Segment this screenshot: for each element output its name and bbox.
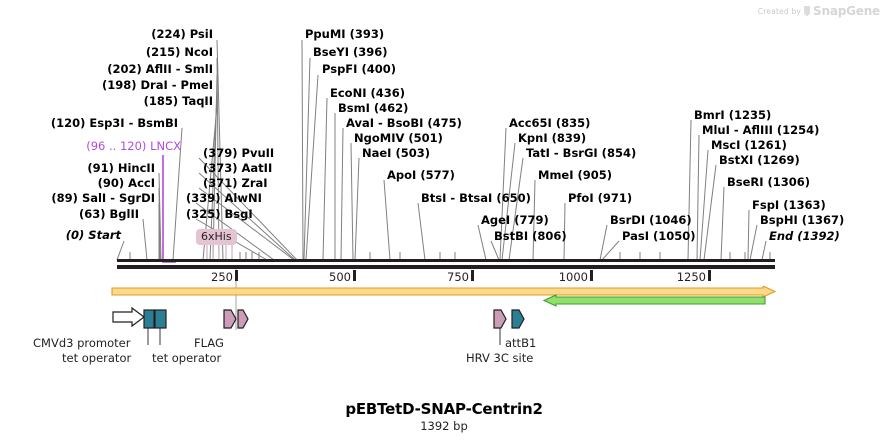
site-label[interactable]: (90) AccI [98,178,155,190]
site-label[interactable]: (224) PsiI [151,29,213,41]
site-label[interactable]: (373) AatII [203,163,272,175]
badge-6xhis[interactable]: 6xHis [196,229,237,245]
site-label[interactable]: (379) PvuII [203,148,274,160]
site-label[interactable]: Acc65I (835) [509,118,590,130]
plasmid-title: pEBTetD-SNAP-Centrin2 [0,400,888,418]
site-label[interactable]: BseYI (396) [313,47,388,59]
dna-backbone-bottom [117,265,775,269]
feature-label-attb1[interactable]: attB1 [505,336,536,350]
feature-label-hrv-3c-site[interactable]: HRV 3C site [466,351,533,365]
site-label-start[interactable]: (0) Start [66,230,121,242]
feature-label-tet-operator-2[interactable]: tet operator [152,351,221,365]
dna-backbone-top [117,259,775,262]
created-by-label: Created by [758,7,801,16]
site-label[interactable]: MluI - AflIII (1254) [702,125,819,137]
site-label[interactable]: KpnI (839) [518,133,586,145]
site-label[interactable]: BmrI (1235) [694,110,771,122]
site-label[interactable]: BsmI (462) [338,103,408,115]
ruler-tick [590,270,593,281]
site-label[interactable]: TatI - BsrGI (854) [526,148,636,160]
site-label[interactable]: (325) BsgI [186,209,253,221]
site-label[interactable]: PfoI (971) [568,193,632,205]
ruler-tick-label: 1000 [559,270,588,284]
site-label[interactable]: PspFI (400) [322,64,396,76]
site-label[interactable]: (120) Esp3I - BsmBI [51,118,178,130]
flag-glyph-2 [238,310,248,328]
site-label[interactable]: NaeI (503) [362,148,430,160]
site-label[interactable]: BsrDI (1046) [610,215,692,227]
site-label[interactable]: BstXI (1269) [719,155,800,167]
feature-label-flag[interactable]: FLAG [194,336,224,350]
site-label[interactable]: (63) BglII [79,209,139,221]
site-label[interactable]: MscI (1261) [711,140,787,152]
site-label[interactable]: (91) HincII [87,163,155,175]
cmvd3-promoter-glyph [113,308,144,326]
attb1-glyph [512,310,524,328]
site-label[interactable]: (89) SalI - SgrDI [51,193,155,205]
ruler-tick [471,270,474,281]
plasmid-map: Created by SnapGene [0,0,888,440]
feature-label-cmvd3-promoter[interactable]: CMVd3 promoter [33,336,130,350]
plasmid-length: 1392 bp [0,419,888,433]
feature-glyphs [0,306,888,332]
site-label[interactable]: PasI (1050) [622,231,696,243]
site-label[interactable]: (185) TaqII [144,96,213,108]
ruler-tick [708,270,711,281]
snapgene-brand-label: SnapGene [813,4,880,18]
site-label[interactable]: ApoI (577) [387,170,455,182]
site-label[interactable]: BspHI (1367) [760,215,844,227]
site-label-end[interactable]: End (1392) [769,231,840,243]
ruler-tick-label: 250 [211,270,233,284]
ruler-tick-label: 1250 [677,270,706,284]
feature-label-tet-operator-1[interactable]: tet operator [62,351,131,365]
hrv-3c-site-glyph [494,310,506,328]
site-label[interactable]: (215) NcoI [146,47,213,59]
range-label-lncx[interactable]: (96 .. 120) LNCX [86,141,181,153]
tet-operator-glyph-2 [155,310,166,328]
site-label[interactable]: (339) AlwNI [186,193,262,205]
site-label[interactable]: NgoMIV (501) [354,133,443,145]
site-label[interactable]: (371) ZraI [203,178,268,190]
tet-operator-glyph-1 [144,310,154,328]
ruler-tick-label: 500 [329,270,351,284]
site-label[interactable]: AvaI - BsoBI (475) [346,118,462,130]
snapgene-logo-icon [804,6,810,17]
ruler-tick-label: 750 [447,270,469,284]
site-label[interactable]: MmeI (905) [538,170,612,182]
site-label[interactable]: BseRI (1306) [727,177,810,189]
site-label[interactable]: PpuMI (393) [305,29,384,41]
green-arrow-icon [544,295,765,306]
site-label[interactable]: FspI (1363) [752,200,826,212]
flag-glyph-1 [224,310,236,328]
site-label[interactable]: (198) DraI - PmeI [102,80,213,92]
site-label[interactable]: AgeI (779) [481,215,549,227]
site-label[interactable]: BstBI (806) [494,231,567,243]
ruler-tick [353,270,356,281]
snapgene-credit: Created by SnapGene [758,4,880,18]
site-label[interactable]: EcoNI (436) [330,88,405,100]
ruler-tick [235,270,238,281]
site-label[interactable]: BtsI - BtsaI (650) [421,193,531,205]
site-label[interactable]: (202) AflII - SmlI [107,64,213,76]
